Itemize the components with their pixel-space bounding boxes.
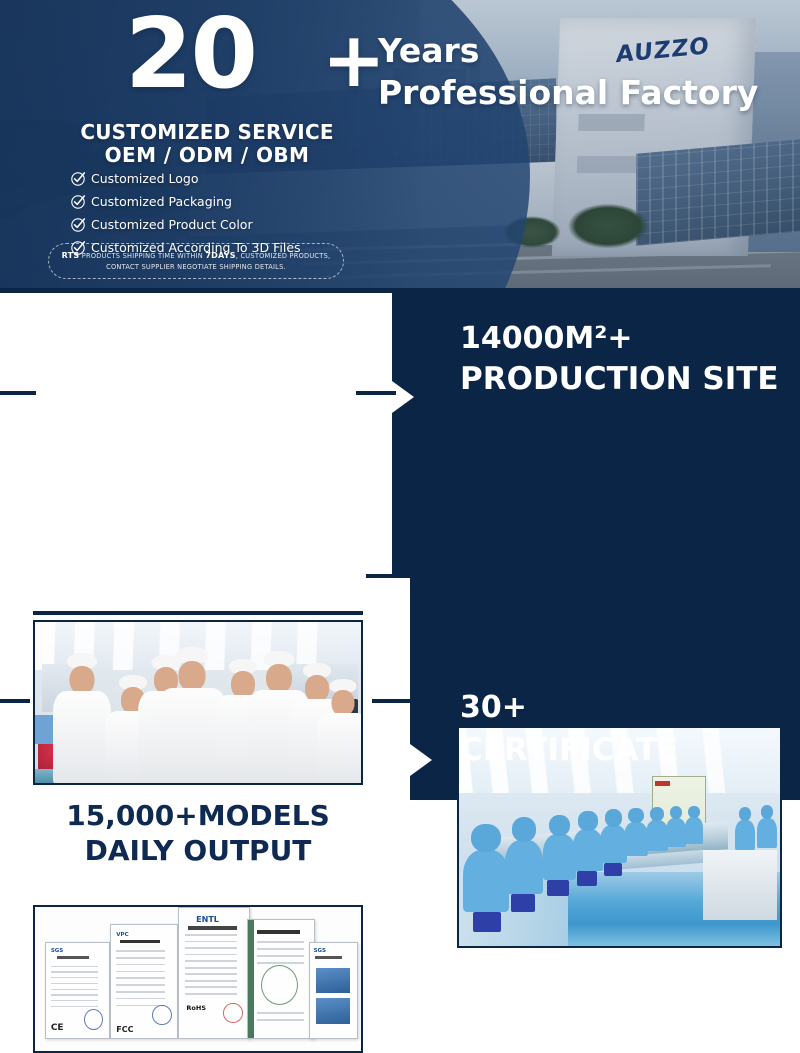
certificates-photo: SGS CE VPC	[35, 907, 361, 1051]
team-member	[317, 679, 363, 783]
list-item: Customized Product Color	[70, 214, 301, 234]
workstation-cabinet	[703, 850, 777, 920]
years-label: Years	[378, 33, 479, 69]
line-worker	[505, 840, 543, 894]
models-stat-block: 15,000+MODELS DAILY OUTPUT	[33, 799, 363, 869]
rts-line1-a: PRODUCTS SHIPPING TIME WITHIN	[82, 252, 203, 260]
worker-stool	[473, 912, 501, 932]
line-worker	[646, 820, 668, 851]
stats-section: 15,000+MODELS DAILY OUTPUT SGS CE VPC	[0, 288, 800, 800]
line-worker	[666, 818, 686, 847]
team-photo-frame	[33, 620, 363, 785]
fcc-mark: FCC	[116, 1025, 133, 1034]
product-photo	[316, 968, 350, 994]
check-circle-icon	[70, 192, 88, 210]
product-photo	[316, 998, 350, 1024]
team-member	[53, 653, 111, 783]
line-worker	[463, 850, 509, 912]
issuer-logo: ENTL	[196, 915, 219, 924]
list-item: Customized Packaging	[70, 191, 301, 211]
certificates-photo-frame: SGS CE VPC	[33, 905, 363, 1053]
connector-line-bottom-arrow	[372, 699, 414, 703]
oem-odm-obm-heading: OEM / ODM / OBM	[66, 143, 348, 167]
rts-shipping-note: RTS PRODUCTS SHIPPING TIME WITHIN 7DAYS,…	[48, 243, 344, 279]
line-worker	[600, 825, 627, 863]
rohs-mark: RoHS	[186, 1004, 206, 1012]
issuer-logo: SGS	[51, 948, 63, 954]
rts-note-line-2: CONTACT SUPPLIER NEGOTIATE SHIPPING DETA…	[106, 262, 286, 273]
list-item: Customized Logo	[70, 168, 301, 188]
worker-stool	[604, 863, 622, 876]
certificate-card: SGS	[309, 942, 358, 1040]
customized-service-heading: CUSTOMIZED SERVICE	[66, 120, 348, 144]
certificate-stat-value: 30+	[460, 688, 678, 728]
connector-line-left-bottom	[0, 699, 30, 703]
certificate-card	[247, 919, 315, 1040]
connector-line-mid	[366, 574, 414, 578]
production-stat-block: 14000M²+ PRODUCTION SITE	[460, 320, 779, 400]
connector-line-left-top	[0, 391, 36, 395]
rts-tag: RTS	[62, 251, 80, 260]
worker-stool	[511, 894, 535, 912]
certificate-stat-block: 30+ CERTIFICATE	[460, 688, 678, 772]
line-worker	[757, 818, 777, 848]
ce-mark: CE	[51, 1023, 64, 1033]
check-circle-icon	[70, 169, 88, 187]
hero-banner: AUZZO 20 + Years Professional Factory CU…	[0, 0, 800, 288]
models-stat-value: 15,000+MODELS	[33, 799, 363, 833]
line-worker	[624, 822, 648, 856]
certificate-card: SGS CE	[45, 942, 110, 1040]
certificate-side-band	[248, 920, 254, 1039]
list-item-label: Customized Logo	[91, 171, 199, 186]
list-item-label: Customized Product Color	[91, 217, 253, 232]
infographic-root: AUZZO 20 + Years Professional Factory CU…	[0, 0, 800, 800]
connector-line-top-arrow	[356, 391, 396, 395]
line-worker	[685, 817, 703, 844]
hero-text-layer: 20 + Years Professional Factory CUSTOMIZ…	[0, 0, 800, 288]
list-item-label: Customized Packaging	[91, 194, 232, 209]
certificate-card: ENTL RoHS	[178, 907, 250, 1039]
rts-days: 7DAYS	[205, 251, 235, 260]
line-worker	[573, 829, 603, 871]
issuer-logo: VPC	[116, 932, 128, 938]
section-top-divider	[0, 288, 800, 293]
certificate-stat-label: CERTIFICATE	[460, 728, 678, 772]
line-worker	[543, 834, 576, 880]
professional-factory-label: Professional Factory	[378, 74, 758, 112]
check-circle-icon	[70, 215, 88, 233]
worker-stool	[577, 871, 597, 886]
rts-line1-c: , CUSTOMIZED PRODUCTS,	[236, 252, 331, 260]
models-stat-label: DAILY OUTPUT	[33, 833, 363, 869]
rts-note-line-1: RTS PRODUCTS SHIPPING TIME WITHIN 7DAYS,…	[62, 250, 331, 262]
worker-stool	[547, 880, 569, 896]
years-big-number: 20	[125, 6, 256, 102]
issuer-logo: SGS	[314, 948, 326, 954]
production-stat-value: 14000M²+	[460, 320, 779, 358]
years-plus-sign: +	[322, 22, 386, 98]
line-worker	[735, 820, 755, 850]
production-stat-label: PRODUCTION SITE	[460, 358, 779, 400]
factory-team-photo	[35, 622, 361, 783]
certificate-card: VPC FCC	[110, 924, 178, 1039]
